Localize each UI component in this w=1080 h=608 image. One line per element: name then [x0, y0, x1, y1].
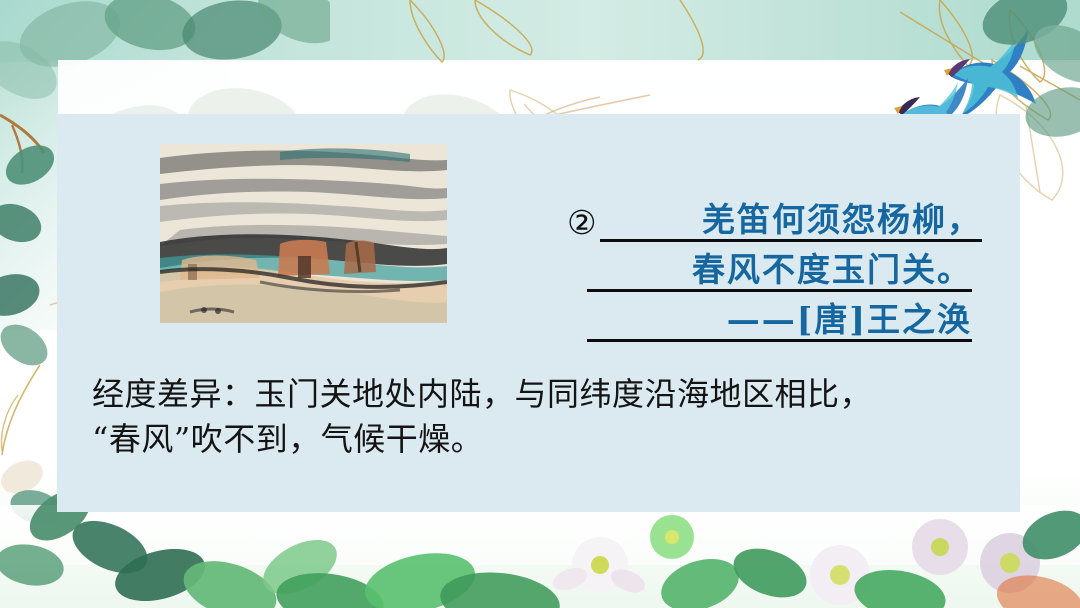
- white-overlay-band-lower: [0, 505, 1080, 565]
- poem-text-2: 春风不度玉门关。: [692, 253, 972, 292]
- poem-attribution: ——[唐]王之涣: [727, 303, 972, 342]
- explanation-line-2: “春风”吹不到，气候干燥。: [92, 417, 992, 462]
- slide-canvas: ② 羌笛何须怨杨柳， 春风不度玉门关。 ——[唐]王之涣 经度差异：玉门关地处内…: [0, 0, 1080, 608]
- explanation-paragraph: 经度差异：玉门关地处内陆，与同纬度沿海地区相比， “春风”吹不到，气候干燥。: [92, 372, 992, 463]
- poem-text-1: 羌笛何须怨杨柳，: [702, 203, 982, 242]
- explanation-line-1: 经度差异：玉门关地处内陆，与同纬度沿海地区相比，: [92, 372, 992, 417]
- content-card: ② 羌笛何须怨杨柳， 春风不度玉门关。 ——[唐]王之涣 经度差异：玉门关地处内…: [57, 114, 1020, 512]
- poem-item-marker: ②: [567, 206, 597, 239]
- poem-line-1: ② 羌笛何须怨杨柳，: [512, 192, 982, 242]
- poem-block: ② 羌笛何须怨杨柳， 春风不度玉门关。 ——[唐]王之涣: [512, 192, 982, 342]
- yumen-pass-painting: [160, 144, 447, 323]
- poem-line-3: ——[唐]王之涣: [512, 292, 982, 342]
- poem-line-2: 春风不度玉门关。: [512, 242, 982, 292]
